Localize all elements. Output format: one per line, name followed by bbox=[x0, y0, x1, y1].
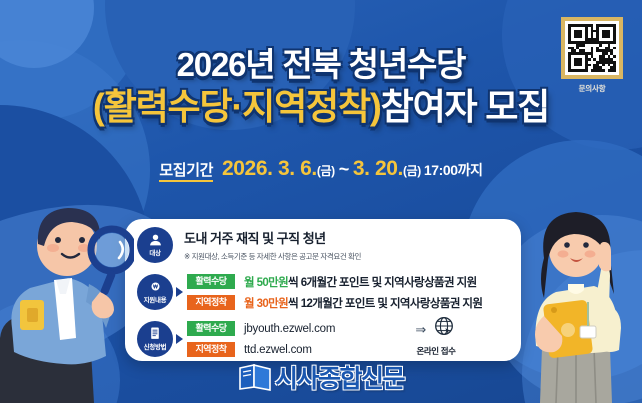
arrow-right-icon: ⇒ bbox=[415, 322, 426, 338]
support-item: 지역정착 월 30만원씩 12개월간 포인트 및 지역사랑상품권 지원 bbox=[187, 292, 482, 313]
apply-items: 활력수당 jbyouth.ezwel.com 지역정착 ttd.ezwel.co… bbox=[187, 318, 335, 360]
poster-root: 문의사항 2026년 전북 청년수당 (활력수당·지역정착)참여자 모집 모집기… bbox=[0, 0, 642, 403]
support-after-2: 씩 12개월간 포인트 및 지역사랑상품권 지원 bbox=[288, 298, 482, 310]
headline-highlight: (활력수당·지역정착) bbox=[93, 86, 381, 127]
card-row-target: 대상 도내 거주 재직 및 구직 청년 ※ 지원대상, 소득기준 등 자세한 사… bbox=[137, 227, 509, 263]
period-end-dow: (금) bbox=[403, 164, 421, 178]
badge-apply: 신청방법 bbox=[137, 321, 173, 357]
recruitment-period: 모집기간2026. 3. 6.(금)~3. 20.(금)17:00까지 bbox=[0, 157, 642, 181]
target-text: 도내 거주 재직 및 구직 청년 ※ 지원대상, 소득기준 등 자세한 사항은 … bbox=[184, 228, 361, 262]
target-title: 도내 거주 재직 및 구직 청년 bbox=[184, 228, 361, 247]
arrow-icon bbox=[176, 287, 183, 297]
period-deadline: 17:00까지 bbox=[424, 162, 483, 178]
svg-text:₩: ₩ bbox=[153, 284, 158, 290]
headline-line-1: 2026년 전북 청년수당 bbox=[0, 48, 642, 81]
badge-support-label: 지원내용 bbox=[144, 294, 167, 304]
support-amount-1: 월 50만원 bbox=[244, 277, 288, 289]
support-amount-2: 월 30만원 bbox=[244, 298, 288, 310]
headline-line-2: (활력수당·지역정착)참여자 모집 bbox=[0, 89, 642, 125]
apply-item: 활력수당 jbyouth.ezwel.com bbox=[187, 318, 335, 339]
badge-apply-label: 신청방법 bbox=[144, 341, 167, 351]
period-tilde: ~ bbox=[339, 159, 349, 179]
apply-url-2[interactable]: ttd.ezwel.com bbox=[244, 344, 312, 356]
money-icon: ₩ bbox=[149, 281, 162, 293]
tag-jiyeok-apply: 지역정착 bbox=[187, 342, 235, 357]
support-item: 활력수당 월 50만원씩 6개월간 포인트 및 지역사랑상품권 지원 bbox=[187, 271, 482, 292]
period-end-date: 3. 20. bbox=[353, 157, 403, 180]
badge-target-label: 대상 bbox=[149, 247, 160, 257]
online-application: ⇒ 온라인 접수 bbox=[399, 315, 473, 357]
period-start-dow: (금) bbox=[317, 164, 335, 178]
period-label: 모집기간 bbox=[159, 162, 213, 182]
card-row-support: ₩ 지원내용 활력수당 월 50만원씩 6개월간 포인트 및 지역사랑상품권 지… bbox=[137, 271, 517, 313]
tag-hwallyeok: 활력수당 bbox=[187, 274, 235, 289]
support-items: 활력수당 월 50만원씩 6개월간 포인트 및 지역사랑상품권 지원 지역정착 … bbox=[187, 271, 482, 313]
news-logo-name: 시사종합신문 bbox=[275, 359, 404, 395]
support-desc-2: 월 30만원씩 12개월간 포인트 및 지역사랑상품권 지원 bbox=[244, 295, 482, 311]
newspaper-icon bbox=[238, 363, 272, 391]
target-note: ※ 지원대상, 소득기준 등 자세한 사항은 공고문 자격요건 확인 bbox=[184, 251, 361, 262]
support-after-1: 씩 6개월간 포인트 및 지역사랑상품권 지원 bbox=[288, 277, 476, 289]
headline: 2026년 전북 청년수당 (활력수당·지역정착)참여자 모집 bbox=[0, 48, 642, 125]
news-logo: 시사종합신문 bbox=[0, 359, 642, 395]
tag-jiyeok: 지역정착 bbox=[187, 295, 235, 310]
apply-item: 지역정착 ttd.ezwel.com bbox=[187, 339, 335, 360]
person-icon bbox=[149, 234, 162, 246]
online-caption: 온라인 접수 bbox=[399, 345, 473, 357]
document-icon bbox=[149, 327, 161, 340]
support-desc-1: 월 50만원씩 6개월간 포인트 및 지역사랑상품권 지원 bbox=[244, 274, 477, 290]
tag-hwallyeok-apply: 활력수당 bbox=[187, 321, 235, 336]
arrow-icon bbox=[176, 334, 183, 344]
info-card: 대상 도내 거주 재직 및 구직 청년 ※ 지원대상, 소득기준 등 자세한 사… bbox=[125, 219, 521, 361]
globe-icon bbox=[433, 315, 457, 344]
headline-rest: 참여자 모집 bbox=[381, 86, 549, 127]
period-start-date: 2026. 3. 6. bbox=[222, 157, 317, 180]
badge-support: ₩ 지원내용 bbox=[137, 274, 173, 310]
apply-url-1[interactable]: jbyouth.ezwel.com bbox=[244, 323, 335, 335]
badge-target: 대상 bbox=[137, 227, 173, 263]
